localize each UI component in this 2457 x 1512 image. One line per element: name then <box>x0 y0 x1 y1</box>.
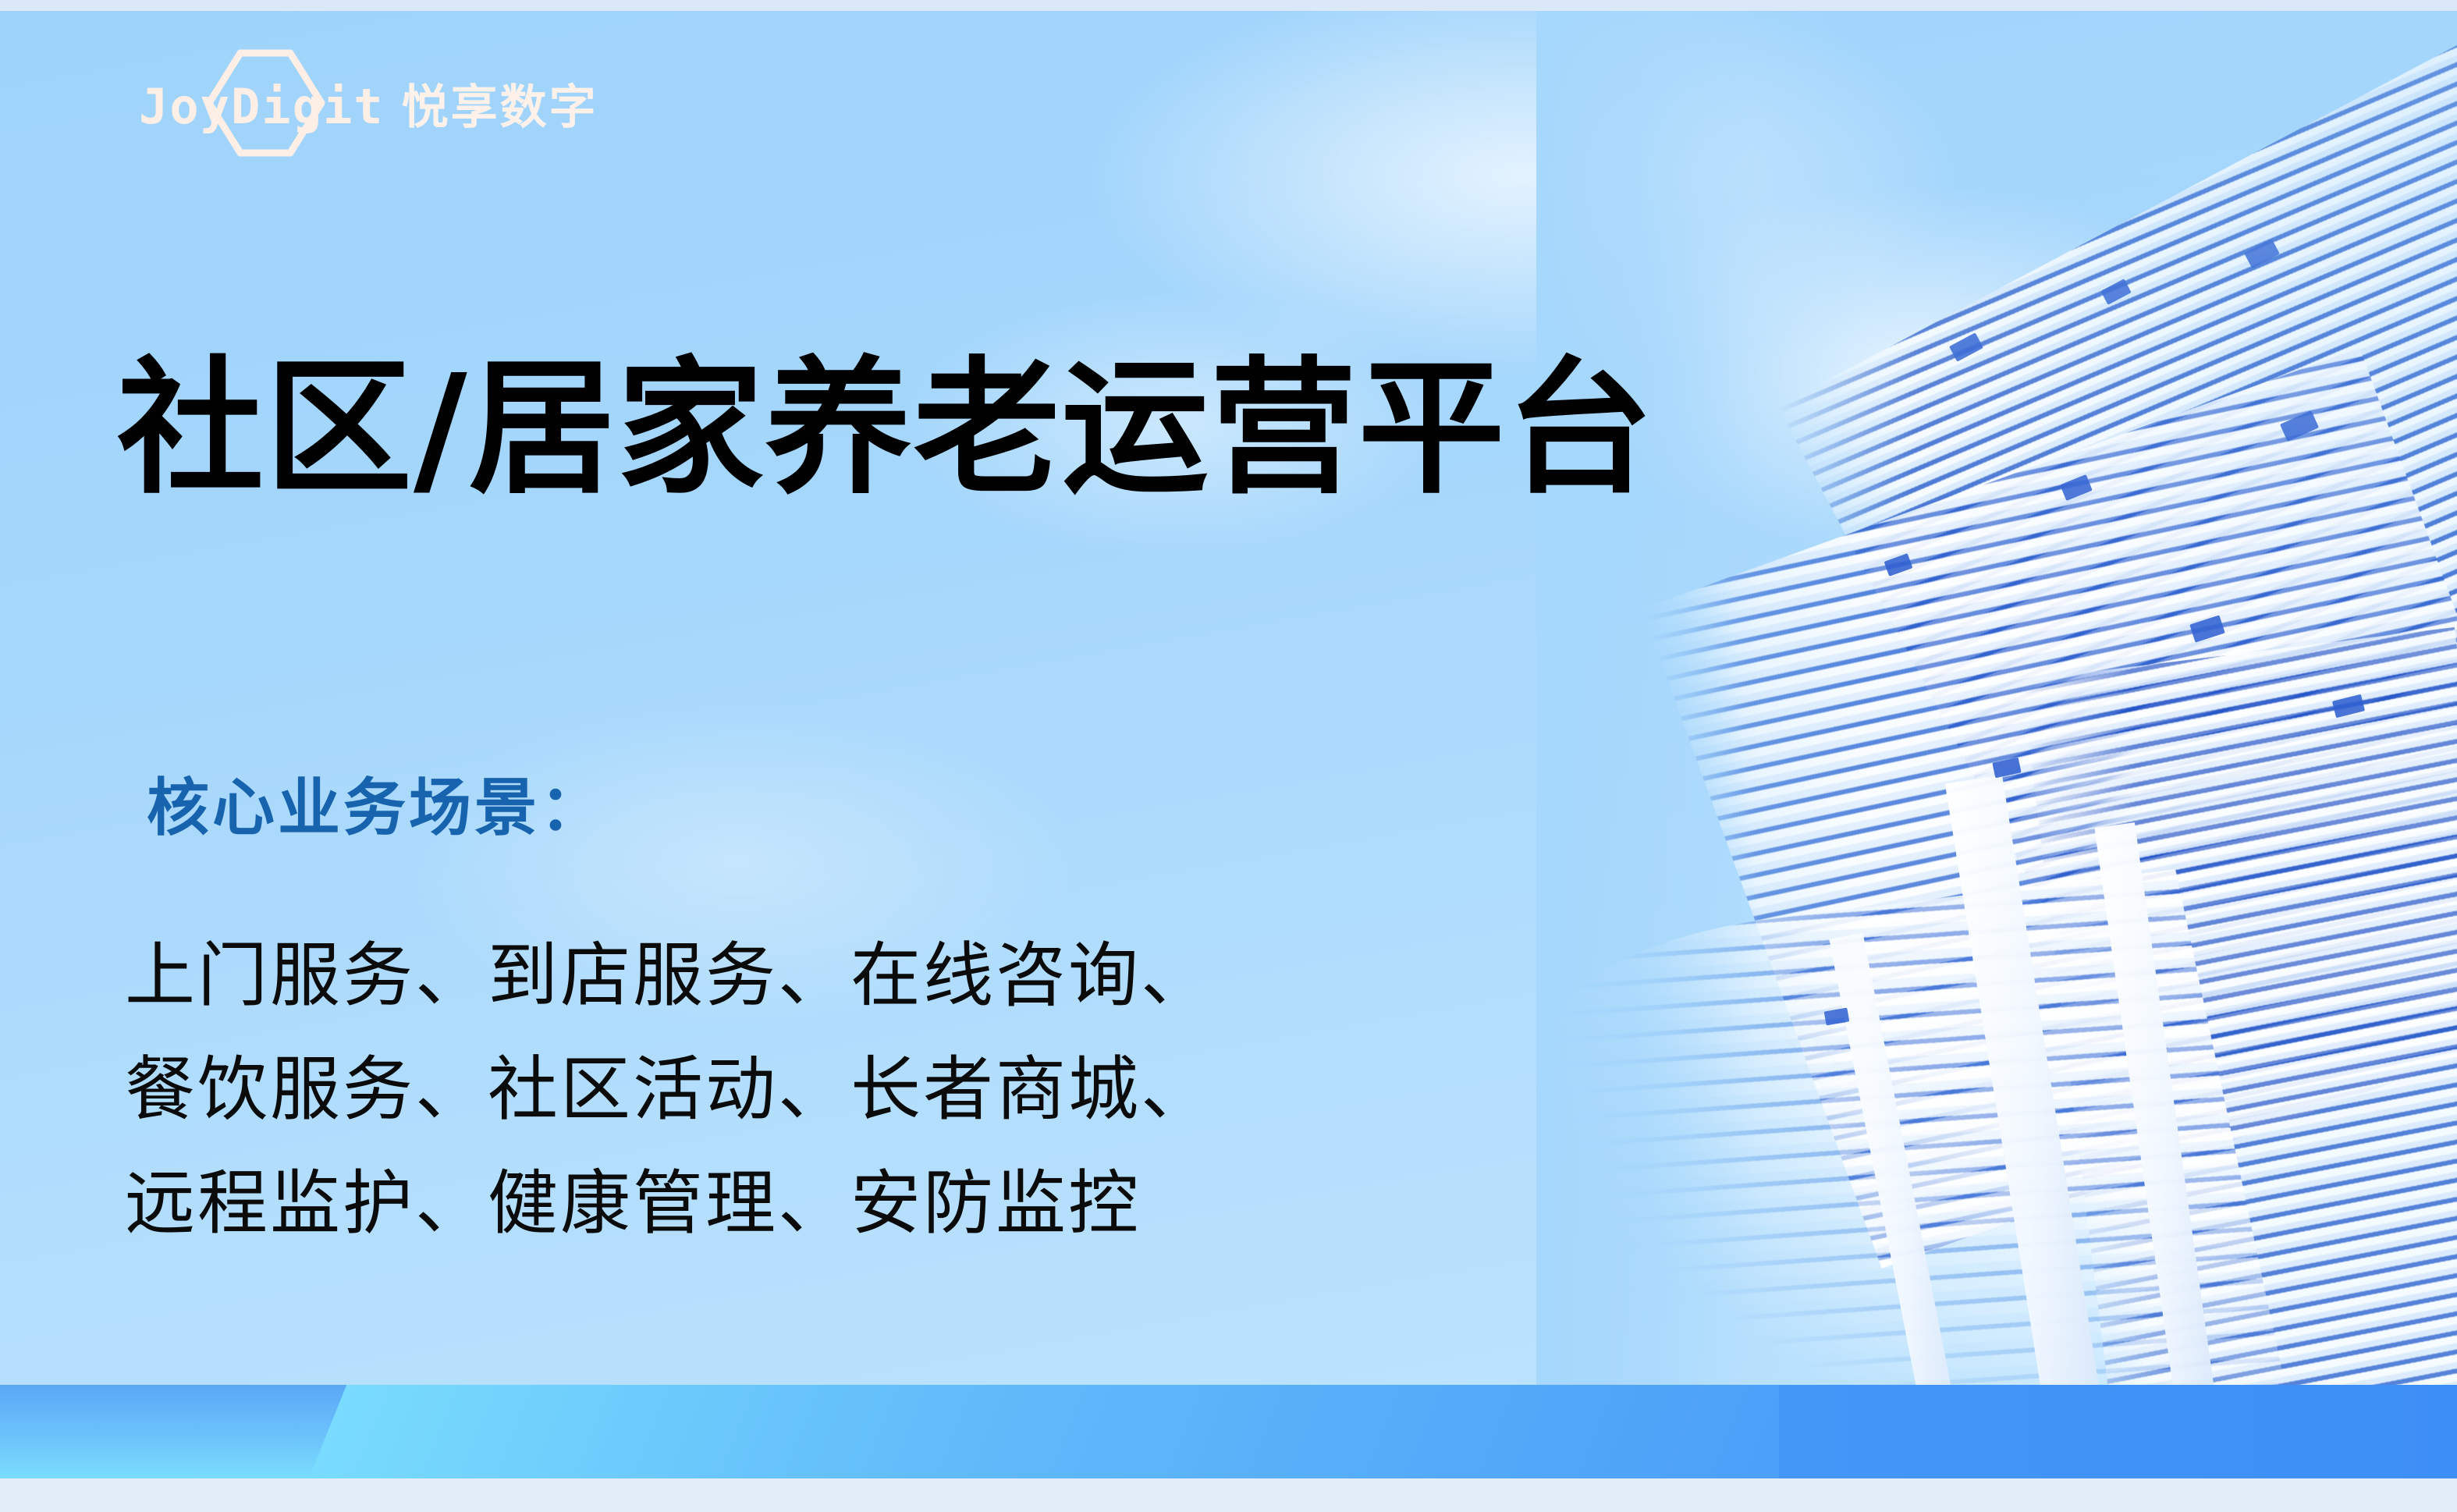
band-baseline <box>0 1478 2457 1512</box>
top-accent-band <box>0 0 2457 11</box>
brand-name-cn: 悦享数字 <box>402 69 598 137</box>
brand-logo[interactable]: JoyDigit 悦享数字 <box>139 66 598 140</box>
scenario-line: 上门服务、到店服务、在线咨询、 <box>125 919 1213 1033</box>
building-photo <box>1536 11 2457 1385</box>
section-subheading: 核心业务场景： <box>147 774 605 843</box>
page-title: 社区/居家养老运营平台 <box>117 356 1655 502</box>
slide-canvas: JoyDigit 悦享数字 社区/居家养老运营平台 核心业务场景： 上门服务、到… <box>0 0 2457 1512</box>
bottom-decorative-band <box>0 1385 2457 1512</box>
scenario-list: 上门服务、到店服务、在线咨询、 餐饮服务、社区活动、长者商城、 远程监护、健康管… <box>125 919 1213 1260</box>
brand-logo-text: JoyDigit 悦享数字 <box>139 69 598 137</box>
scenario-line: 远程监护、健康管理、安防监控 <box>125 1147 1213 1261</box>
brand-name-en: JoyDigit <box>139 78 385 135</box>
scenario-line: 餐饮服务、社区活动、长者商城、 <box>125 1033 1213 1147</box>
band-shape-right-cap <box>1779 1385 2457 1478</box>
